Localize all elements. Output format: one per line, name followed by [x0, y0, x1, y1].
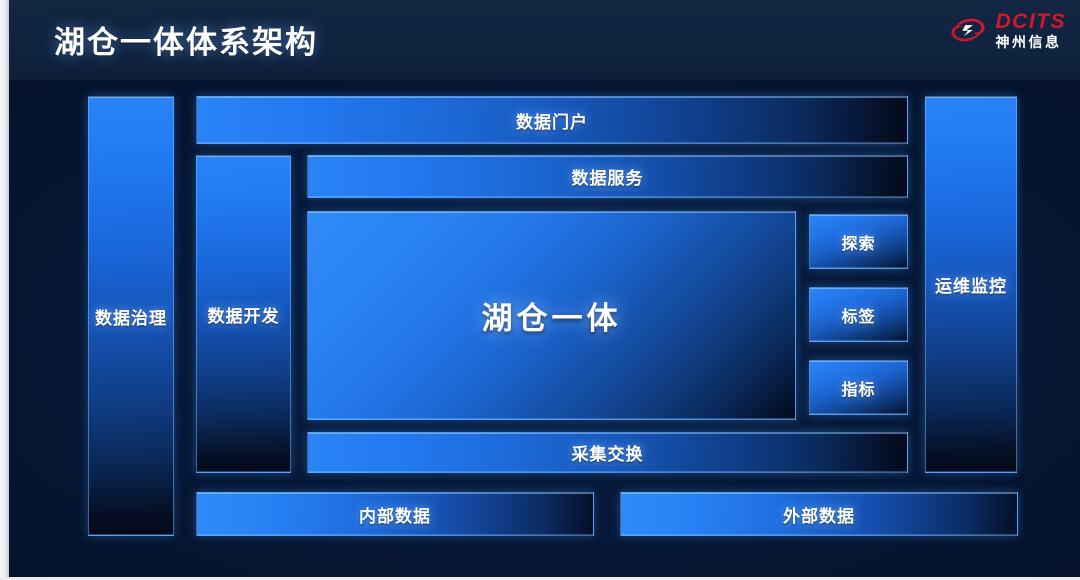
block-label: 数据门户: [516, 108, 588, 133]
block-lakehouse[interactable]: 湖仓一体: [307, 211, 796, 420]
block-metrics[interactable]: 指标: [809, 360, 908, 415]
block-label: 外部数据: [783, 502, 855, 527]
block-explore[interactable]: 探索: [809, 214, 908, 269]
block-label: 标签: [841, 303, 875, 327]
block-collect-exchange[interactable]: 采集交换: [307, 432, 908, 473]
block-internal-data[interactable]: 内部数据: [196, 492, 594, 536]
block-label: 湖仓一体: [482, 293, 622, 338]
block-data-development[interactable]: 数据开发: [196, 155, 291, 473]
block-label: 探索: [841, 230, 875, 254]
block-label: 内部数据: [359, 502, 431, 527]
logo-text-cn: 神州信息: [996, 35, 1067, 49]
block-label: 数据治理: [95, 304, 167, 329]
block-tags[interactable]: 标签: [809, 287, 908, 342]
logo-text-en: DCITS: [996, 11, 1067, 32]
block-label: 数据服务: [572, 164, 644, 189]
block-label: 数据开发: [208, 302, 280, 327]
block-label: 运维监控: [935, 272, 1007, 297]
page-title: 湖仓一体体系架构: [54, 17, 318, 62]
block-data-portal[interactable]: 数据门户: [196, 96, 908, 144]
block-label: 指标: [841, 376, 875, 400]
logo-wordmark: DCITS 神州信息: [996, 11, 1067, 49]
dcits-swirl-icon: [947, 11, 989, 49]
block-data-service[interactable]: 数据服务: [307, 155, 908, 198]
block-data-governance[interactable]: 数据治理: [88, 96, 174, 536]
page-edge-left: [0, 0, 9, 580]
block-external-data[interactable]: 外部数据: [620, 492, 1018, 536]
block-label: 采集交换: [572, 440, 644, 465]
slide-header: 湖仓一体体系架构 DCITS 神州信息: [9, 0, 1080, 80]
company-logo: DCITS 神州信息: [947, 11, 1067, 49]
block-ops-monitoring[interactable]: 运维监控: [925, 96, 1017, 473]
architecture-slide: 湖仓一体体系架构 DCITS 神州信息 数据治理 数据开发 运维监控 数据门户 …: [0, 0, 1080, 580]
